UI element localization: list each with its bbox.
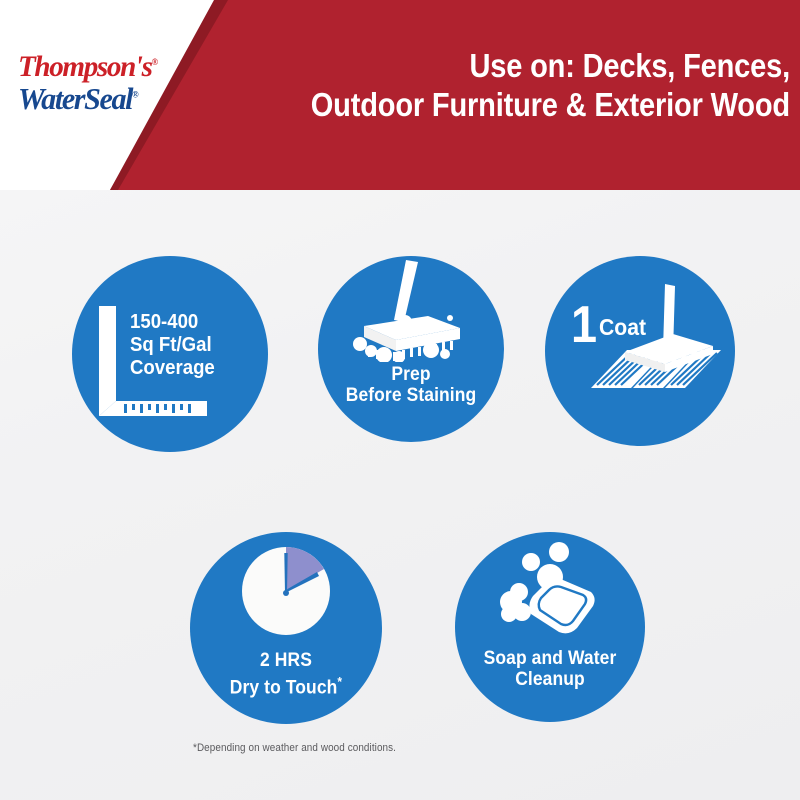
footnote-text: *Depending on weather and wood condition… <box>193 742 396 754</box>
brand-logo-waterseal-text: WaterSeal <box>18 81 132 116</box>
feature-circle-one-coat: 1 Coat <box>545 256 735 446</box>
feature-circle-dry-time: 2 HRS Dry to Touch* <box>190 532 382 724</box>
feature-coverage-text: 150-400 Sq Ft/Gal Coverage <box>130 311 251 380</box>
header-title: Use on: Decks, Fences, Outdoor Furniture… <box>297 46 790 124</box>
feature-cleanup-art <box>455 532 645 648</box>
feature-dry-time-footnote-marker: * <box>337 674 342 689</box>
brand-logo-registered-mark-2: ® <box>132 90 139 100</box>
deck-applicator-pad-icon <box>587 284 727 414</box>
feature-cleanup-caption: Soap and Water Cleanup <box>463 648 638 690</box>
feature-coverage-content: 150-400 Sq Ft/Gal Coverage <box>72 256 268 452</box>
feature-circle-coverage: 150-400 Sq Ft/Gal Coverage <box>72 256 268 452</box>
header-banner: Thompson's® WaterSeal® Use on: Decks, Fe… <box>0 0 800 190</box>
feature-prep-caption: Prep Before Staining <box>325 364 496 406</box>
brand-logo-registered-mark-1: ® <box>152 57 159 67</box>
feature-circle-cleanup: Soap and Water Cleanup <box>455 532 645 722</box>
brand-logo-thompsons: Thompson's® <box>18 52 202 82</box>
feature-dry-time-caption-text: 2 HRS Dry to Touch <box>230 650 338 698</box>
brand-logo-thompsons-text: Thompson's <box>18 50 152 83</box>
feature-one-coat-art <box>587 284 727 414</box>
feature-prep-art <box>318 256 504 364</box>
brand-logo: Thompson's® WaterSeal® <box>18 52 208 114</box>
soap-bar-bubbles-icon <box>497 540 603 640</box>
feature-dry-time-caption: 2 HRS Dry to Touch* <box>198 650 375 698</box>
product-feature-poster: Thompson's® WaterSeal® Use on: Decks, Fe… <box>0 0 800 800</box>
scrub-brush-icon <box>352 258 470 362</box>
brand-logo-waterseal: WaterSeal® <box>18 83 202 114</box>
feature-dry-time-art <box>190 532 382 650</box>
clock-icon <box>236 541 336 641</box>
feature-circle-prep: Prep Before Staining <box>318 256 504 442</box>
